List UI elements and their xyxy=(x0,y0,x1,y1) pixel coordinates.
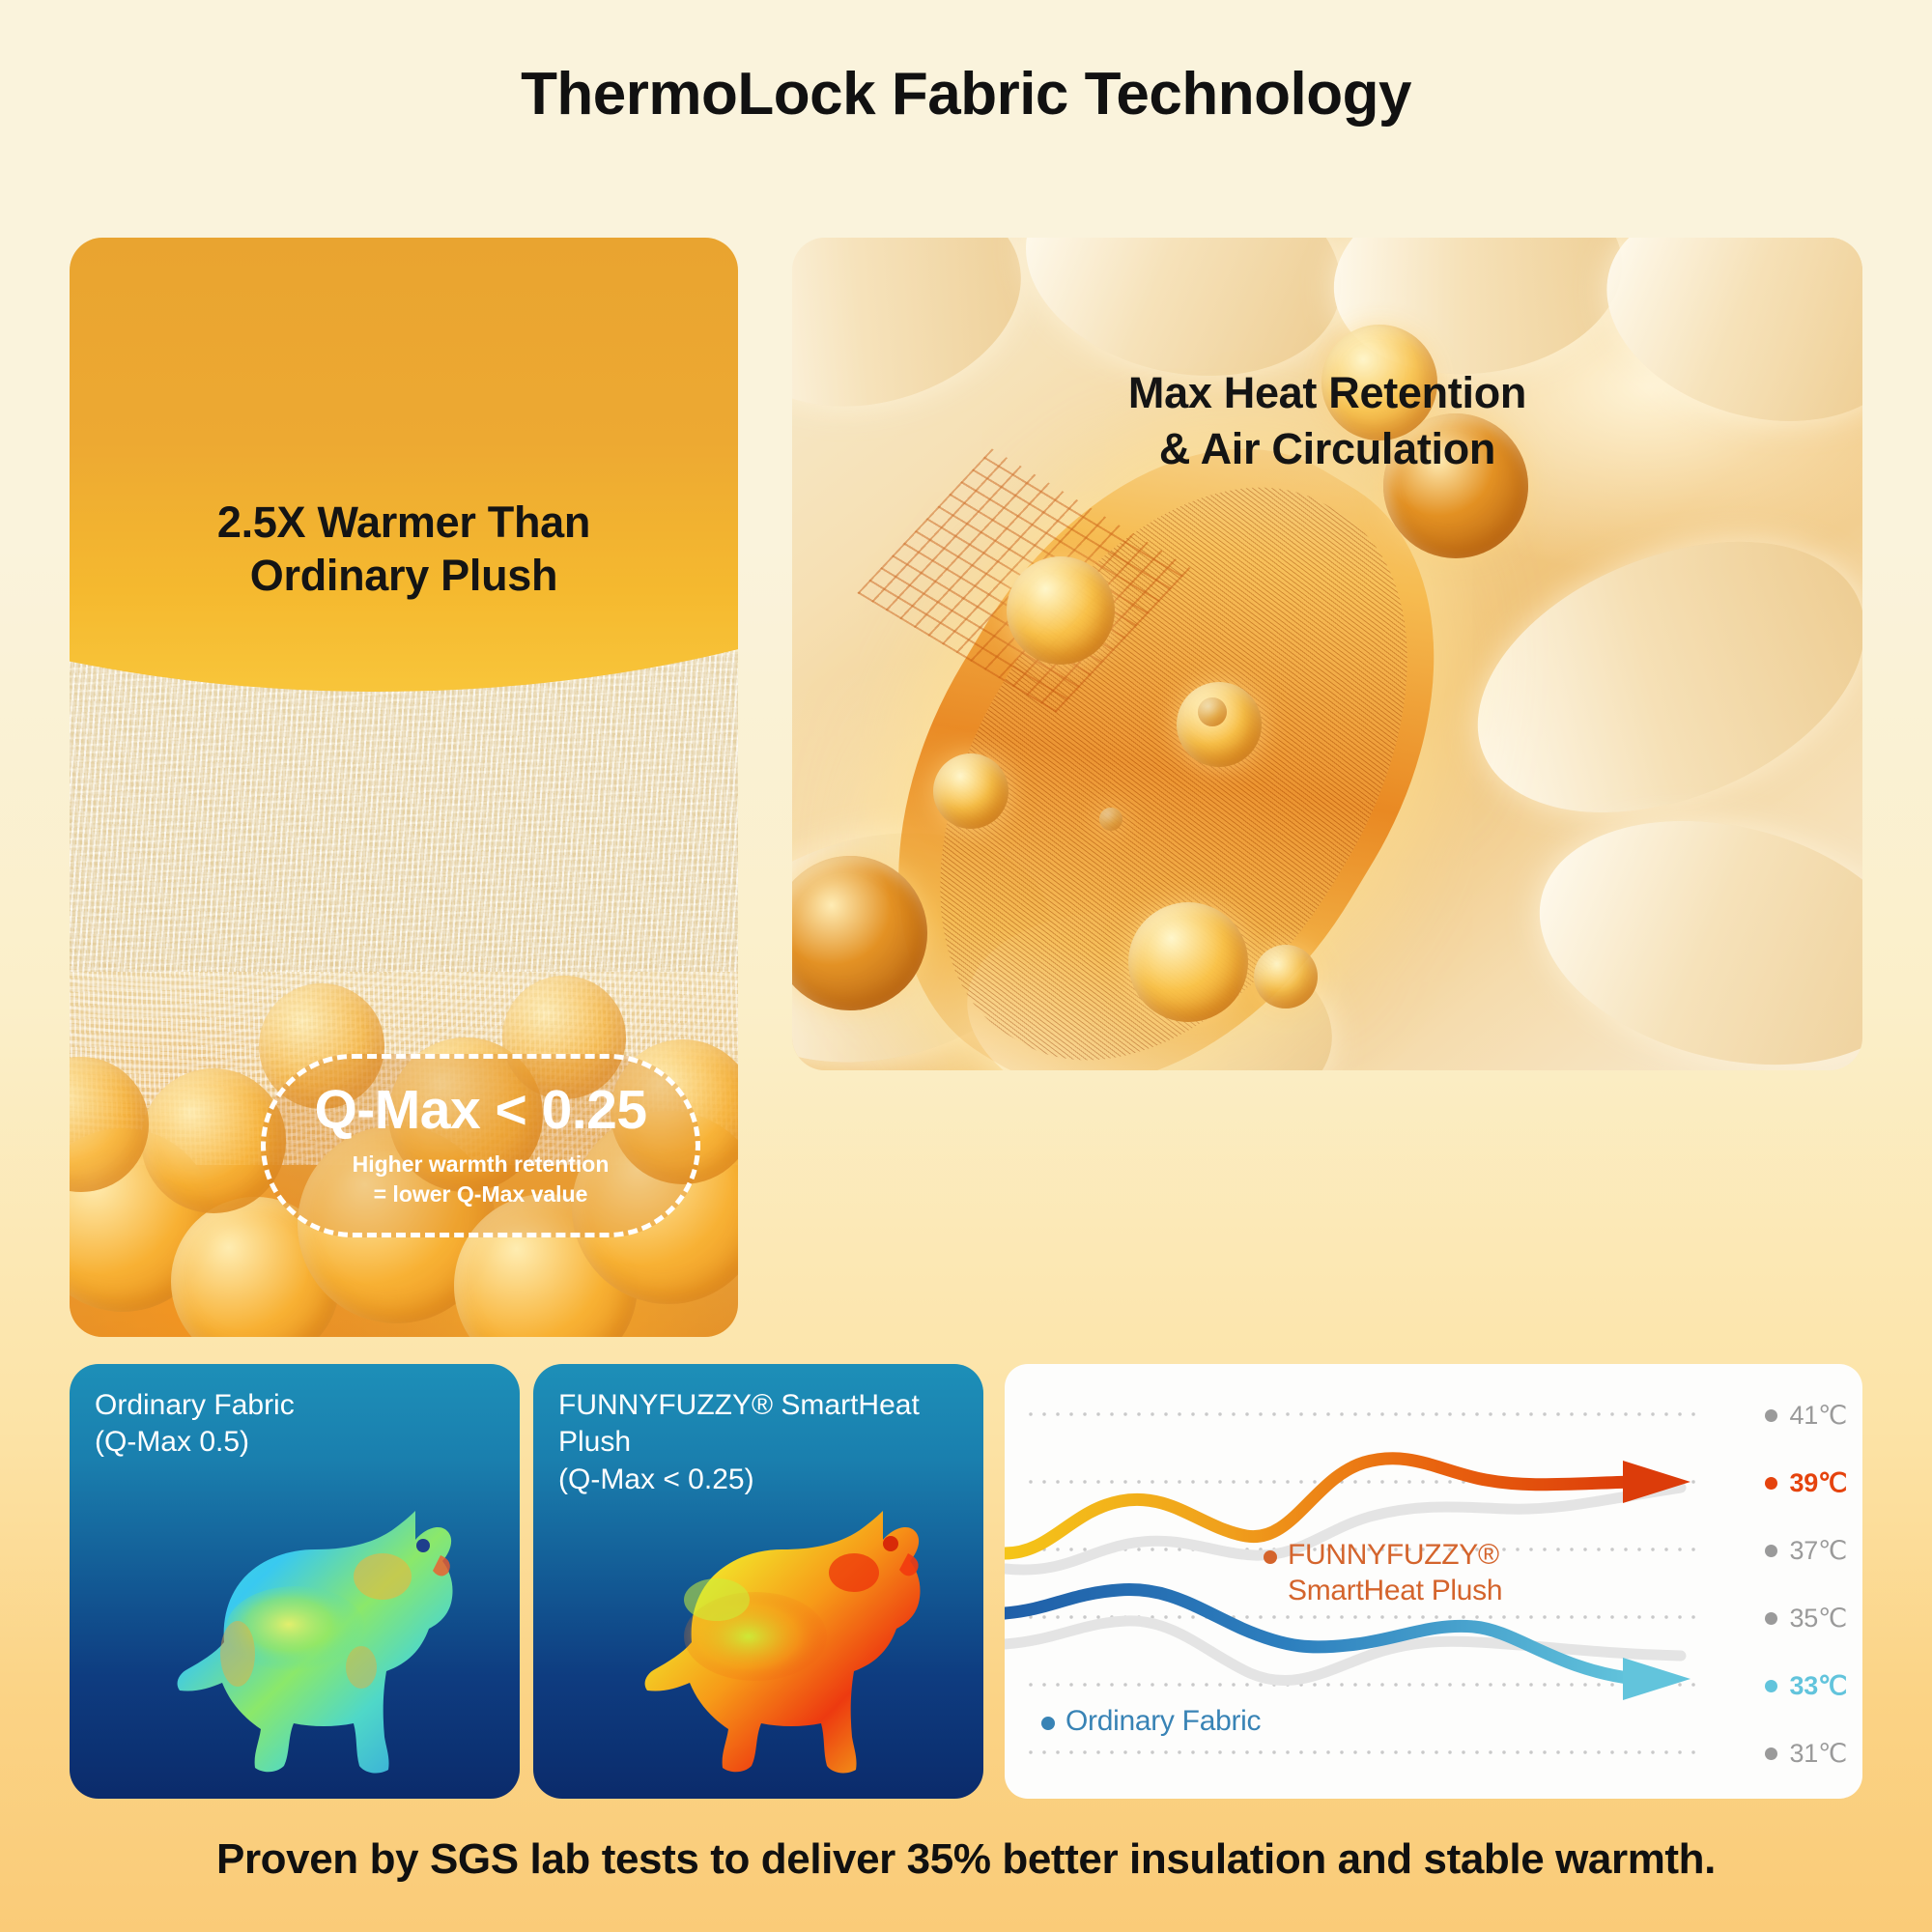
heat-orb xyxy=(1254,945,1318,1009)
tick-dot-icon xyxy=(1765,1680,1777,1692)
fiber-structure-panel: Max Heat Retention & Air Circulation xyxy=(792,238,1862,1070)
thermal-right-title-line1: FUNNYFUZZY® SmartHeat Plush xyxy=(558,1389,920,1458)
thermal-right-title-line2: (Q-Max < 0.25) xyxy=(558,1463,754,1495)
qmax-subtitle: Higher warmth retention = lower Q-Max va… xyxy=(353,1150,610,1208)
tick-dot-icon xyxy=(1765,1612,1777,1625)
qmax-badge: Q-Max < 0.25 Higher warmth retention = l… xyxy=(261,1054,700,1237)
plush-heading-line2: Ordinary Plush xyxy=(250,551,557,600)
temperature-chart-panel: 41℃ 39℃ 37℃ 35℃ 33℃ 31℃ FUNNYFUZZY® Smar… xyxy=(1005,1364,1862,1799)
qmax-subtitle-line2: = lower Q-Max value xyxy=(374,1181,588,1207)
fiber-heading-line1: Max Heat Retention xyxy=(1128,368,1526,417)
plush-fabric-panel: 2.5X Warmer Than Ordinary Plush Q-Max < … xyxy=(70,238,738,1337)
thermal-left-title: Ordinary Fabric (Q-Max 0.5) xyxy=(95,1387,295,1462)
cold-arrowhead xyxy=(1623,1658,1690,1700)
tick-dot-icon xyxy=(1765,1409,1777,1422)
plush-heading-line1: 2.5X Warmer Than xyxy=(217,497,590,547)
tick-37: 37℃ xyxy=(1765,1536,1847,1566)
legend-smartheat-label: FUNNYFUZZY® SmartHeat Plush xyxy=(1288,1538,1502,1608)
thermal-left-title-line2: (Q-Max 0.5) xyxy=(95,1426,249,1458)
heat-orb xyxy=(1128,902,1248,1022)
footer-caption: Proven by SGS lab tests to deliver 35% b… xyxy=(0,1835,1932,1884)
legend-smartheat: FUNNYFUZZY® SmartHeat Plush xyxy=(1264,1538,1502,1608)
legend-dot-icon xyxy=(1041,1717,1055,1730)
thermal-dog-cool xyxy=(133,1484,471,1793)
qmax-value: Q-Max < 0.25 xyxy=(314,1083,646,1138)
fiber-heading-line2: & Air Circulation xyxy=(1159,424,1495,473)
legend-ordinary: Ordinary Fabric xyxy=(1041,1704,1261,1740)
tick-31: 31℃ xyxy=(1765,1739,1847,1769)
fiber-heading: Max Heat Retention & Air Circulation xyxy=(792,365,1862,476)
tick-dot-icon xyxy=(1765,1747,1777,1760)
qmax-subtitle-line1: Higher warmth retention xyxy=(353,1151,610,1177)
thermal-panel-smartheat: FUNNYFUZZY® SmartHeat Plush (Q-Max < 0.2… xyxy=(533,1364,983,1799)
heat-orb xyxy=(933,753,1009,829)
tick-33: 33℃ xyxy=(1765,1671,1847,1701)
tick-dot-icon xyxy=(1765,1477,1777,1490)
thermal-panel-ordinary: Ordinary Fabric (Q-Max 0.5) xyxy=(70,1364,520,1799)
tick-35: 35℃ xyxy=(1765,1604,1847,1634)
thermal-dog-warm xyxy=(601,1484,939,1793)
page-title: ThermoLock Fabric Technology xyxy=(0,60,1932,128)
legend-ordinary-label: Ordinary Fabric xyxy=(1065,1704,1261,1740)
tick-39: 39℃ xyxy=(1765,1468,1847,1498)
thermal-left-title-line1: Ordinary Fabric xyxy=(95,1389,295,1421)
thermal-right-title: FUNNYFUZZY® SmartHeat Plush (Q-Max < 0.2… xyxy=(558,1387,983,1498)
legend-dot-icon xyxy=(1264,1550,1277,1564)
heat-orb xyxy=(1007,556,1115,665)
tick-dot-icon xyxy=(1765,1545,1777,1557)
plush-texture-layer-2 xyxy=(70,653,738,972)
plush-header-band xyxy=(70,238,738,692)
plush-heading: 2.5X Warmer Than Ordinary Plush xyxy=(70,497,738,603)
heat-orb xyxy=(1198,697,1227,726)
heat-orb xyxy=(1099,808,1122,831)
tick-41: 41℃ xyxy=(1765,1401,1847,1431)
